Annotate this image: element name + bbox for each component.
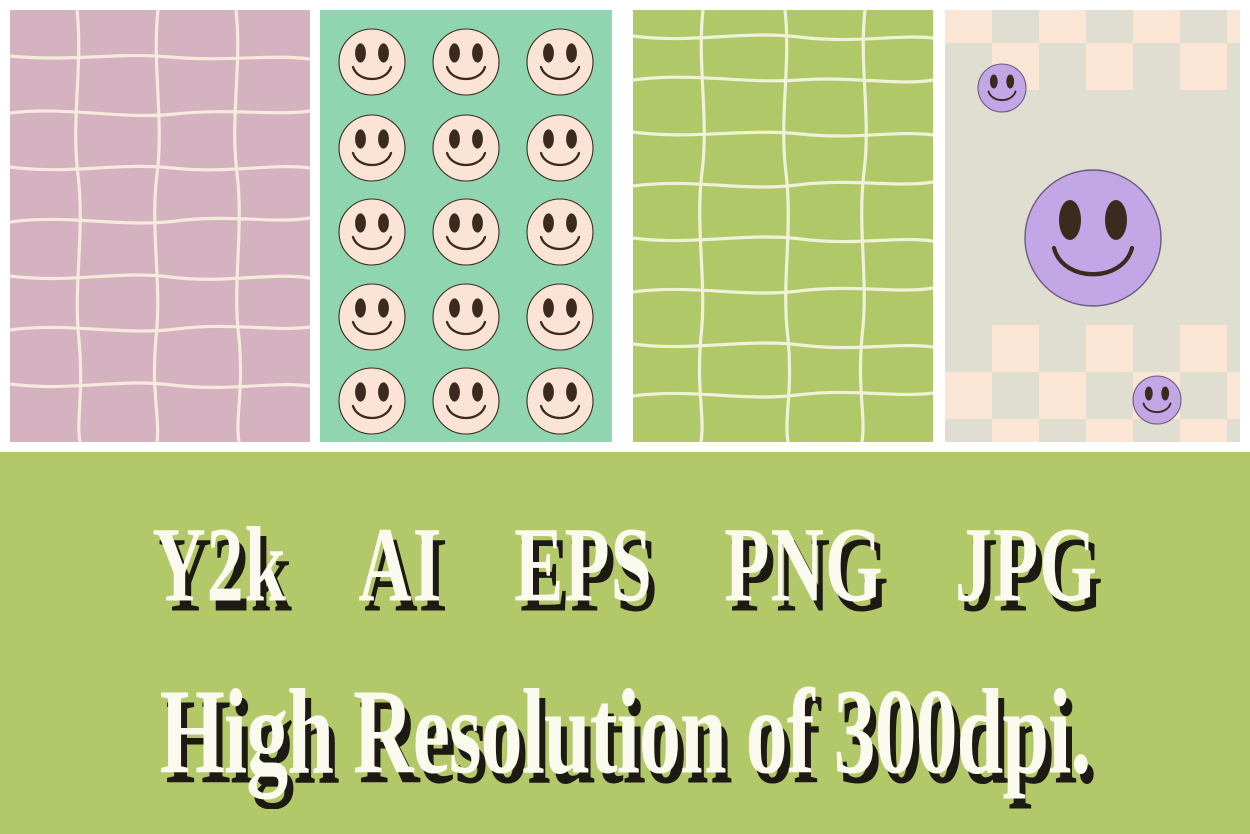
smiley-face-icon	[527, 199, 593, 265]
format-label-eps: EPS	[514, 505, 653, 628]
green-wavy-grid-svg	[633, 10, 933, 442]
smiley-face-icon	[433, 115, 499, 181]
format-label-ai: AI	[358, 505, 442, 628]
pink-wavy-grid-svg	[10, 10, 310, 442]
smiley-face-icon	[339, 29, 405, 95]
smiley-face-row-1	[339, 29, 593, 95]
pink-panel-background	[10, 10, 310, 442]
smiley-face-icon	[433, 199, 499, 265]
smiley-face-icon	[433, 284, 499, 350]
small-smiley-top-left	[978, 64, 1026, 112]
format-label-jpg: JPG	[955, 505, 1098, 628]
poster-canvas: Y2k AI EPS PNG JPG High Resolution of 30…	[0, 0, 1250, 834]
smiley-face-row-2	[339, 115, 593, 181]
large-smiley-center	[1025, 170, 1161, 306]
checkerboard-svg	[945, 10, 1240, 442]
smiley-grid-svg	[320, 10, 612, 442]
panel-pink-wavy-grid	[10, 10, 310, 442]
smiley-face-icon	[339, 115, 405, 181]
smiley-face-icon	[339, 284, 405, 350]
smiley-face-icon	[433, 368, 499, 434]
small-smiley-bottom-right	[1133, 376, 1181, 424]
panel-checkerboard-smileys	[945, 10, 1240, 442]
panel-mint-smiley-grid	[320, 10, 612, 442]
green-panel-background	[633, 10, 933, 442]
smiley-face-icon	[527, 284, 593, 350]
smiley-face-icon	[527, 368, 593, 434]
smiley-face-icon	[527, 115, 593, 181]
format-label-png: PNG	[724, 505, 883, 628]
file-format-list: Y2k AI EPS PNG JPG	[0, 505, 1250, 628]
promo-banner: Y2k AI EPS PNG JPG High Resolution of 30…	[0, 452, 1250, 834]
format-label-y2k: Y2k	[152, 505, 287, 628]
resolution-text: High Resolution of 300dpi.	[0, 662, 1250, 803]
smiley-face-icon	[339, 199, 405, 265]
smiley-face-icon	[339, 368, 405, 434]
smiley-face-icon	[433, 29, 499, 95]
smiley-face-row-3	[339, 199, 593, 265]
panel-green-wavy-grid	[633, 10, 933, 442]
smiley-face-icon	[527, 29, 593, 95]
smiley-face-row-5	[339, 368, 593, 434]
smiley-face-row-4	[339, 284, 593, 350]
